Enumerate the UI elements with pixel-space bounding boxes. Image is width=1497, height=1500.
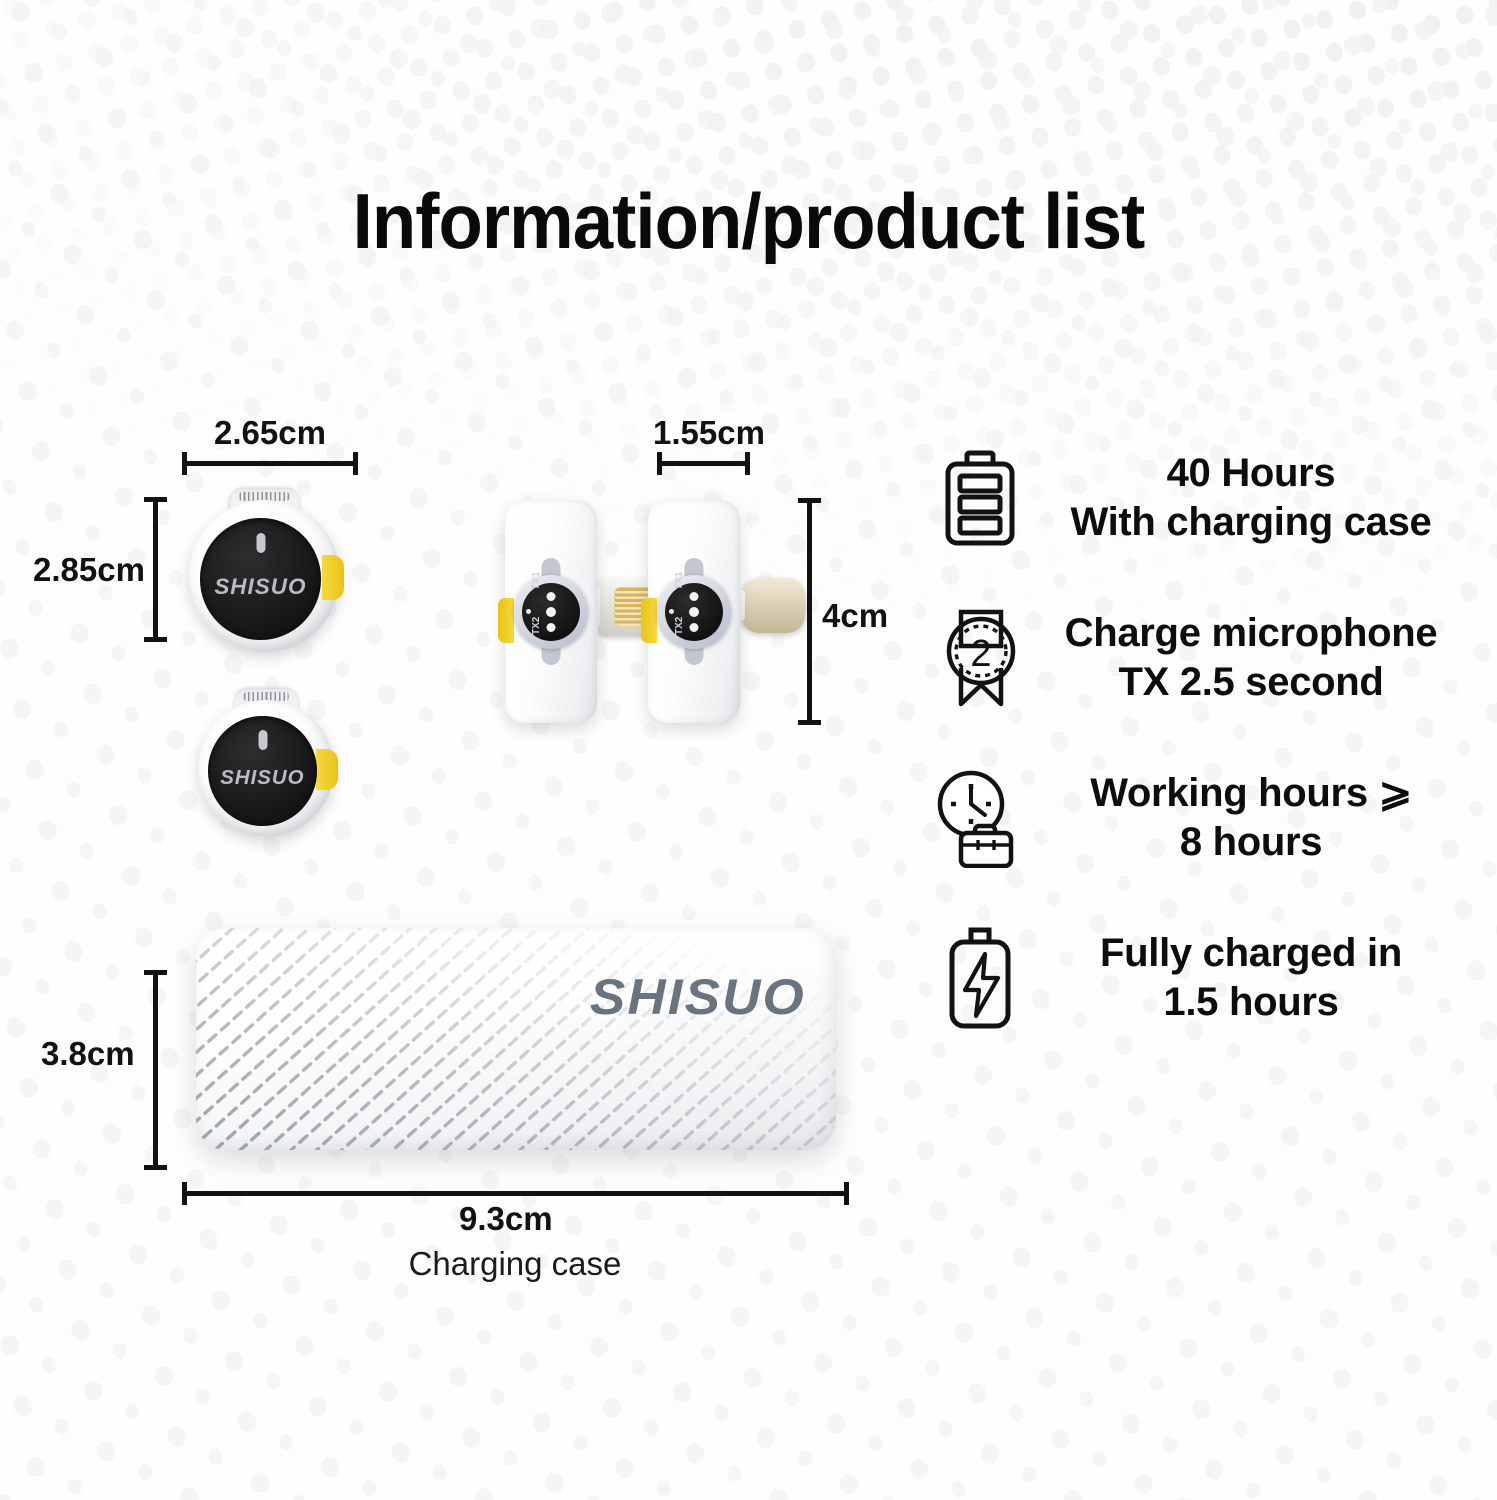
mic-width-dimension-line [182,461,358,466]
mic-brand-logo: SHISUO [207,767,318,790]
feature-line1: Charge microphone [1065,611,1438,655]
receiver-lightning[interactable]: TX1 TX2 [505,500,597,723]
feature-row-battery-life: 40 Hours With charging case [925,418,1465,578]
case-height-label: 3.8cm [41,1035,135,1073]
case-height-dimension-line [153,970,158,1170]
feature-row-charge-speed: 2 Charge microphone TX 2.5 second [925,578,1465,738]
mic-led-indicator [256,533,265,553]
receiver-accent-strip [498,598,514,643]
receiver-accent-strip [641,598,657,643]
microphone-2[interactable]: SHISUO [198,700,334,837]
receiver-tx2-label: TX2 [674,616,685,634]
case-dot-gradient-pattern [196,928,836,1150]
mic-led-indicator [258,730,267,750]
receiver-led-1 [547,592,556,601]
clock-briefcase-icon [925,768,1037,868]
case-width-label: 9.3cm [459,1200,553,1238]
receiver-usbc[interactable]: TX1 TX2 [648,500,740,723]
receiver-led-1 [690,592,699,601]
receiver-tx1-label: TX1 [674,571,685,589]
receiver-status-dot [669,609,674,614]
mic-width-label: 2.65cm [214,414,326,452]
badge-number: 2 [970,633,991,675]
receiver-led-2 [546,607,556,617]
mic-accent-strip [316,749,338,790]
receiver-led-2 [689,607,699,617]
feature-line2: With charging case [1037,498,1465,547]
receiver-width-dimension-line [657,461,750,466]
battery-bolt-icon [925,926,1037,1030]
mic-accent-strip [322,555,344,601]
receiver-display: TX1 TX2 [522,583,580,641]
receiver-led-3 [690,623,699,632]
feature-text-working-hours: Working hours ⩾ 8 hours [1037,769,1465,867]
receiver-height-dimension-line [807,498,812,725]
case-brand-logo: SHISUO [590,968,806,1026]
receiver-width-label: 1.55cm [653,414,765,452]
case-width-dimension-line [182,1191,849,1196]
feature-text-battery-life: 40 Hours With charging case [1037,449,1465,547]
feature-line2: 8 hours [1037,818,1465,867]
feature-line1: Working hours ⩾ [1090,771,1412,815]
mic-height-label: 2.85cm [33,551,145,589]
receiver-led-3 [547,623,556,632]
feature-list: 40 Hours With charging case 2 Charge mic… [925,418,1465,1058]
feature-row-full-charge: Fully charged in 1.5 hours [925,898,1465,1058]
feature-line2: 1.5 hours [1037,978,1465,1027]
mic-brand-logo: SHISUO [199,574,322,600]
microphone-1[interactable]: SHISUO [189,500,340,652]
receiver-tx1-label: TX1 [531,571,542,589]
mic-face: SHISUO [208,716,317,826]
receiver-status-dot [526,609,531,614]
feature-text-charge-speed: Charge microphone TX 2.5 second [1037,609,1465,707]
charging-case[interactable]: SHISUO [196,928,836,1150]
feature-row-working-hours: Working hours ⩾ 8 hours [925,738,1465,898]
mic-face: SHISUO [200,518,321,640]
receiver-tx2-label: TX2 [531,616,542,634]
feature-line2: TX 2.5 second [1037,658,1465,707]
page-title: Information/product list [52,176,1444,267]
usbc-connector [741,578,805,633]
receiver-height-label: 4cm [822,597,888,635]
feature-line1: Fully charged in [1100,931,1402,975]
mic-height-dimension-line [153,497,158,642]
medal-badge-icon: 2 [925,606,1037,710]
feature-text-full-charge: Fully charged in 1.5 hours [1037,929,1465,1027]
receiver-display: TX1 TX2 [665,583,723,641]
feature-line1: 40 Hours [1167,451,1336,495]
battery-bars-icon [925,448,1037,548]
case-caption: Charging case [0,1245,1030,1283]
case-shell: SHISUO [196,928,836,1150]
